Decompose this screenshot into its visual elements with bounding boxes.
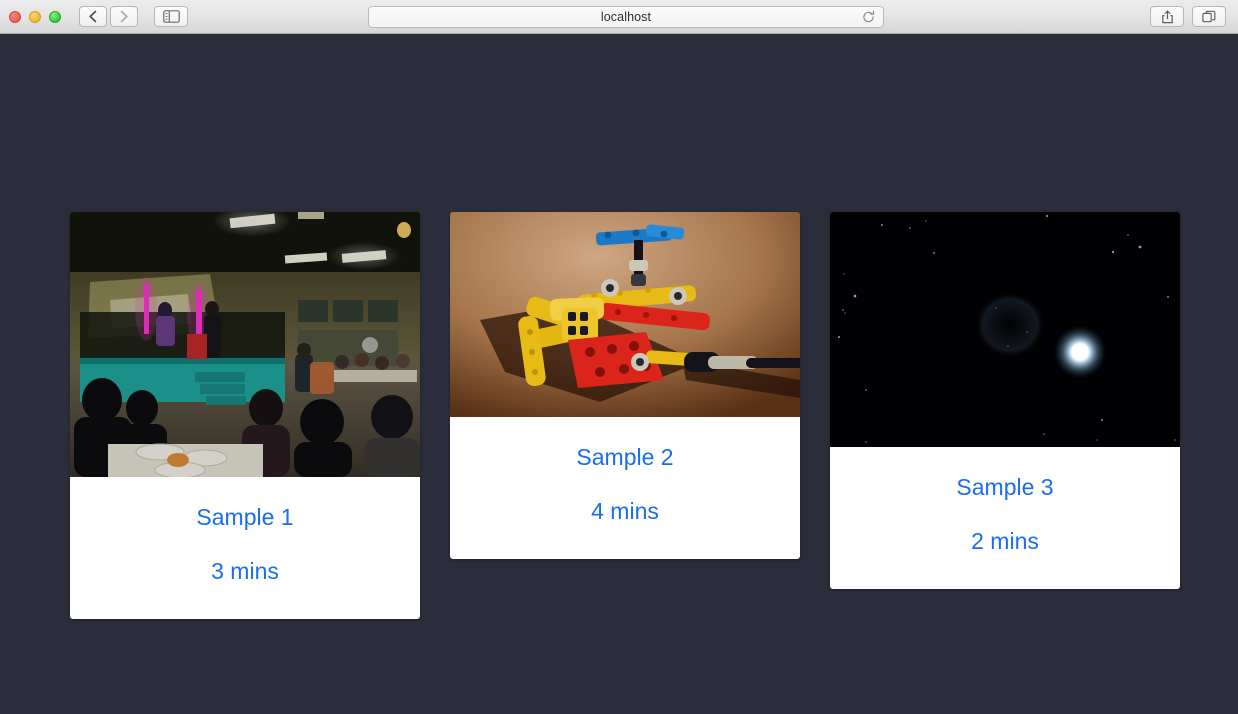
card-thumbnail-2[interactable] [450, 212, 800, 417]
card-title[interactable]: Sample 1 [80, 503, 410, 532]
address-bar-container: localhost [368, 6, 884, 28]
forward-button[interactable] [110, 6, 138, 27]
list-item[interactable]: Sample 2 4 mins [450, 212, 800, 559]
card-title[interactable]: Sample 2 [460, 443, 790, 472]
sidebar-toggle-icon [163, 10, 180, 23]
chevron-left-icon [88, 10, 98, 23]
reload-icon[interactable] [862, 11, 875, 24]
sidebar-toggle-button[interactable] [154, 6, 188, 27]
tabs-button[interactable] [1192, 6, 1226, 27]
toolbar-right-buttons [1150, 6, 1226, 27]
card-duration[interactable]: 2 mins [840, 528, 1170, 556]
card-thumbnail-1[interactable] [70, 212, 420, 477]
list-item[interactable]: Sample 3 2 mins [830, 212, 1180, 589]
share-button[interactable] [1150, 6, 1184, 27]
browser-window: localhost [0, 0, 1238, 714]
browser-toolbar: localhost [0, 0, 1238, 34]
new-tab-icon [1202, 10, 1216, 24]
card-duration[interactable]: 4 mins [460, 498, 790, 526]
page-content: Sample 1 3 mins [0, 34, 1238, 714]
address-bar-text: localhost [601, 10, 651, 24]
card-body-3: Sample 3 2 mins [830, 447, 1180, 589]
card-grid: Sample 1 3 mins [70, 212, 1182, 619]
card-body-2: Sample 2 4 mins [450, 417, 800, 559]
lego-technic-model-photo [450, 212, 800, 417]
back-button[interactable] [79, 6, 107, 27]
close-window-button[interactable] [9, 11, 21, 23]
card-duration[interactable]: 3 mins [80, 558, 410, 586]
chevron-right-icon [119, 10, 129, 23]
night-sky-star-photo [830, 212, 1180, 447]
card-thumbnail-3[interactable] [830, 212, 1180, 447]
window-controls [0, 11, 61, 23]
card-title[interactable]: Sample 3 [840, 473, 1170, 502]
address-bar[interactable]: localhost [368, 6, 884, 28]
share-icon [1161, 10, 1174, 24]
navigation-buttons [79, 6, 138, 27]
minimize-window-button[interactable] [29, 11, 41, 23]
maximize-window-button[interactable] [49, 11, 61, 23]
list-item[interactable]: Sample 1 3 mins [70, 212, 420, 619]
card-body-1: Sample 1 3 mins [70, 477, 420, 619]
sidebar-button-wrap [154, 6, 188, 27]
indoor-stage-event-photo [70, 212, 420, 477]
